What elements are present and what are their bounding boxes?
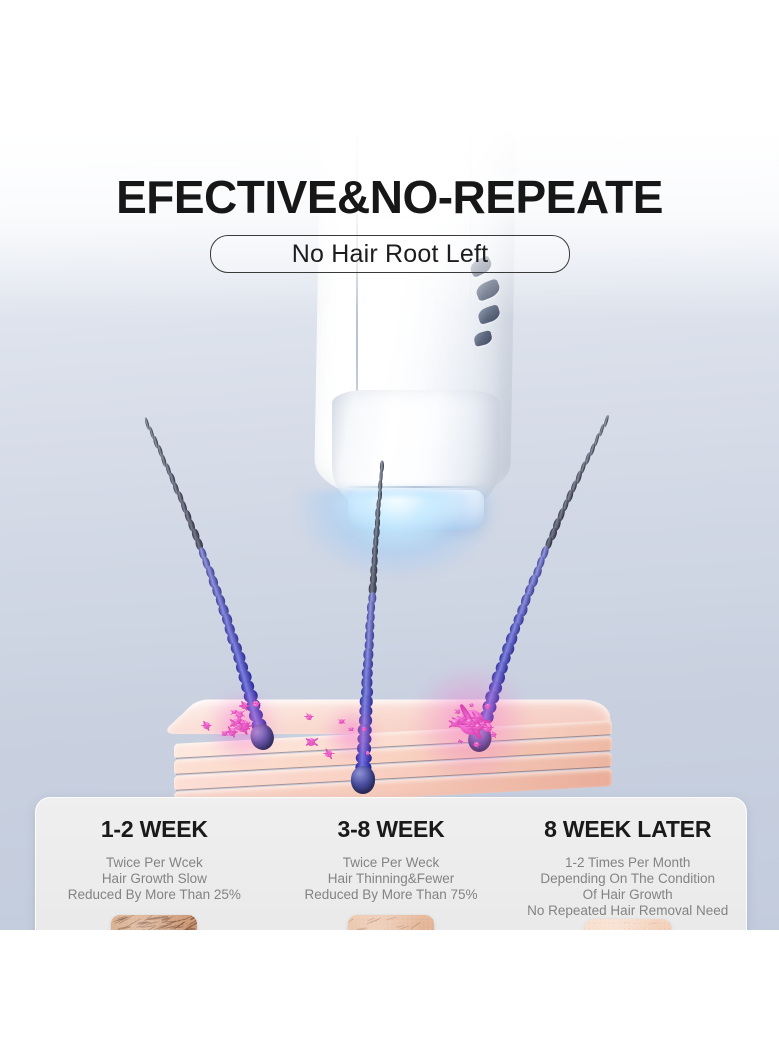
timeline-description-line: Twice Per Weck <box>304 855 477 871</box>
illustration-panel: EFECTIVE&NO-REPEATE No Hair Root Left 1-… <box>0 130 779 930</box>
skin-sample-week-3-8 <box>348 915 434 930</box>
timeline-description-line: Hair Thinning&Fewer <box>304 871 477 887</box>
skin-sample-shading <box>585 919 671 930</box>
timeline-columns: 1-2 WEEKTwice Per WcekHair Growth SlowRe… <box>36 798 746 930</box>
subtitle-pill: No Hair Root Left <box>210 235 570 273</box>
timeline-column-1: 1-2 WEEKTwice Per WcekHair Growth SlowRe… <box>36 798 273 930</box>
timeline-description-line: Reduced By More Than 25% <box>68 887 241 903</box>
subtitle-text: No Hair Root Left <box>292 240 489 269</box>
skin-sample-wrapper <box>111 915 197 930</box>
skin-sample-shading <box>111 915 197 930</box>
skin-sample-week-1-2 <box>111 915 197 930</box>
timeline-column-title: 8 WEEK LATER <box>544 816 711 843</box>
timeline-description-line: Twice Per Wcek <box>68 855 241 871</box>
timeline-description-line: Depending On The Condition <box>527 871 728 887</box>
timeline-column-description: Twice Per WcekHair Growth SlowReduced By… <box>68 855 241 903</box>
skin-sample-week-8-later <box>585 919 671 930</box>
results-timeline-card: 1-2 WEEKTwice Per WcekHair Growth SlowRe… <box>35 797 747 930</box>
infographic-page: EFECTIVE&NO-REPEATE No Hair Root Left 1-… <box>0 0 779 1062</box>
page-title: EFECTIVE&NO-REPEATE <box>0 170 779 224</box>
timeline-column-description: Twice Per WeckHair Thinning&FewerReduced… <box>304 855 477 903</box>
timeline-description-line: Hair Growth Slow <box>68 871 241 887</box>
timeline-description-line: Of Hair Growth <box>527 887 728 903</box>
timeline-column-description: 1-2 Times Per MonthDepending On The Cond… <box>527 855 728 919</box>
skin-sample-wrapper <box>585 919 671 930</box>
timeline-column-title: 3-8 WEEK <box>337 816 444 843</box>
skin-sample-shading <box>348 915 434 930</box>
timeline-description-line: 1-2 Times Per Month <box>527 855 728 871</box>
headline-haze <box>0 130 779 320</box>
timeline-description-line: Reduced By More Than 75% <box>304 887 477 903</box>
skin-sample-wrapper <box>348 915 434 930</box>
timeline-column-title: 1-2 WEEK <box>101 816 208 843</box>
timeline-column-2: 3-8 WEEKTwice Per WeckHair Thinning&Fewe… <box>273 798 510 930</box>
timeline-column-3: 8 WEEK LATER1-2 Times Per MonthDepending… <box>509 798 746 930</box>
timeline-description-line: No Repeated Hair Removal Need <box>527 903 728 919</box>
